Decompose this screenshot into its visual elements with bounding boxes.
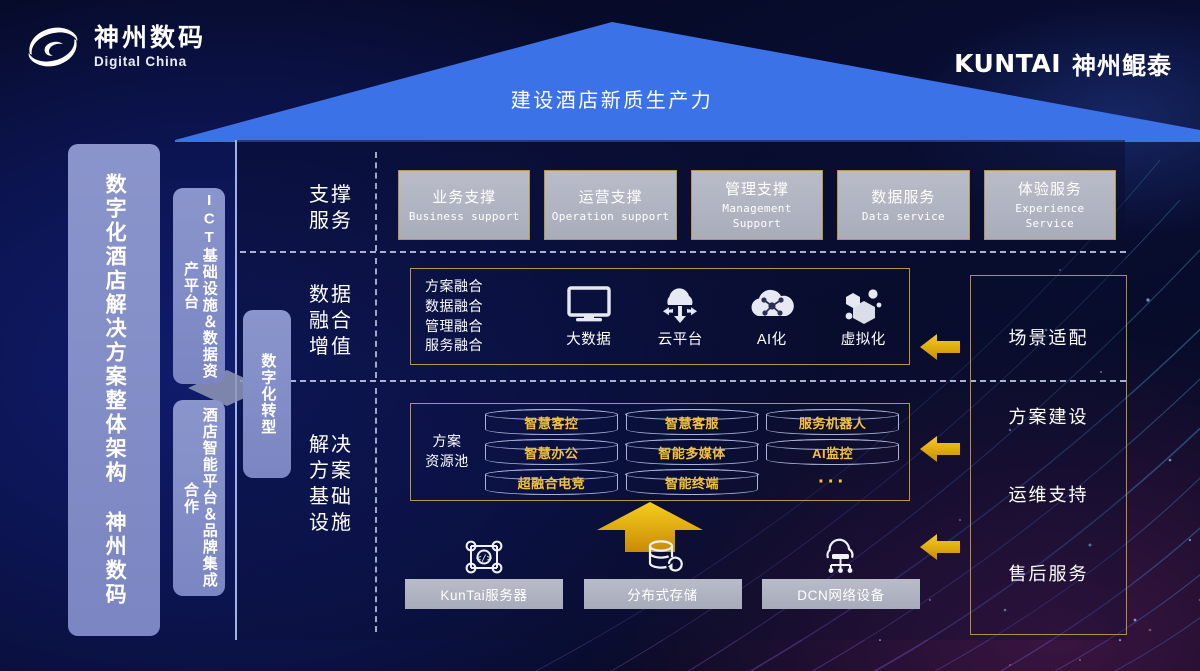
- cloud-transfer-icon: [656, 285, 704, 325]
- sidebar-panel-hotel-label: 酒店智能平台＆品牌集成合作: [180, 400, 218, 596]
- row-label-fusion-l2: 融合: [292, 308, 370, 334]
- solution-resource-pool-box: 方案 资源池 智慧客控智慧客服服务机器人智慧办公智能多媒体AI监控超融合电竞智能…: [410, 403, 910, 501]
- row-separator-support: [240, 251, 1126, 253]
- fusion-keyword-2: 数据融合: [425, 297, 543, 317]
- row-label-solution-l4: 设施: [292, 510, 370, 536]
- pool-label-l1: 方案: [411, 432, 483, 452]
- support-service-box-3[interactable]: 管理支撑ManagementSupport: [691, 170, 823, 240]
- database-sync-icon: [641, 535, 685, 579]
- fusion-item-bigdata-label: 大数据: [566, 328, 611, 349]
- pool-item-2[interactable]: 智慧客服: [626, 409, 759, 435]
- infrastructure-row: </> KunTai服务器 分布式存储: [405, 535, 920, 630]
- support-services-row: 业务支撑Business support运营支撑Operation suppor…: [398, 170, 1116, 240]
- pool-item-8[interactable]: 智能终端: [626, 469, 759, 495]
- row-label-fusion-l1: 数据: [292, 282, 370, 308]
- support-service-cn: 管理支撑: [725, 178, 789, 199]
- pool-item-4[interactable]: 智慧办公: [485, 439, 618, 465]
- fusion-keyword-1: 方案融合: [425, 277, 543, 297]
- support-service-en: ExperienceService: [1015, 202, 1084, 232]
- brand-logo-left-text: 神州数码 Digital China: [94, 25, 206, 68]
- row-label-solution-l2: 方案: [292, 458, 370, 484]
- fusion-item-virtualization-label: 虚拟化: [841, 328, 886, 349]
- brand-logo-left: 神州数码 Digital China: [24, 22, 206, 72]
- pool-item-3[interactable]: 服务机器人: [766, 409, 899, 435]
- support-service-en: Business support: [409, 210, 520, 225]
- left-arrow-icon-2: [920, 434, 960, 464]
- row-label-support: 支撑 服务: [292, 182, 370, 234]
- right-services-panel: 场景适配方案建设运维支持售后服务: [970, 275, 1127, 635]
- support-service-box-1[interactable]: 业务支撑Business support: [398, 170, 530, 240]
- row-label-solution-l3: 基础: [292, 484, 370, 510]
- house-roof: [175, 22, 1200, 142]
- kuntai-en: KUNTAI: [954, 49, 1061, 78]
- pool-label: 方案 资源池: [411, 432, 483, 471]
- pool-label-l2: 资源池: [411, 452, 483, 472]
- brand-en: Digital China: [94, 54, 206, 69]
- brand-cn: 神州数码: [94, 25, 206, 51]
- support-service-cn: 业务支撑: [432, 186, 496, 207]
- fusion-item-bigdata[interactable]: 大数据: [546, 285, 632, 349]
- fusion-item-ai-label: AI化: [757, 328, 787, 349]
- row-label-fusion-l3: 增值: [292, 334, 370, 360]
- monitor-icon: [566, 285, 612, 325]
- pool-item-1[interactable]: 智慧客控: [485, 409, 618, 435]
- row-label-support-l2: 服务: [292, 208, 370, 234]
- fusion-keyword-3: 管理融合: [425, 317, 543, 337]
- pool-item-9[interactable]: ···: [766, 469, 899, 495]
- pool-item-6[interactable]: AI监控: [766, 439, 899, 465]
- support-service-box-5[interactable]: 体验服务ExperienceService: [984, 170, 1116, 240]
- row-label-solution-l1: 解决: [292, 432, 370, 458]
- column-separator-fusion: [375, 258, 377, 378]
- row-label-support-l1: 支撑: [292, 182, 370, 208]
- support-service-en: Data service: [862, 210, 945, 225]
- server-nodes-icon: </>: [462, 535, 506, 579]
- sidebar-panel-ict[interactable]: ICT基础设施＆数据资产平台: [173, 188, 225, 384]
- sidebar-panel-digital-transformation[interactable]: 数字化转型: [243, 310, 291, 478]
- fusion-keyword-list: 方案融合数据融合管理融合服务融合: [411, 277, 543, 357]
- support-service-cn: 体验服务: [1018, 178, 1082, 199]
- sidebar-panel-hotel[interactable]: 酒店智能平台＆品牌集成合作: [173, 400, 225, 596]
- fusion-item-cloud-label: 云平台: [658, 328, 703, 349]
- cubes-icon: [840, 285, 886, 325]
- cloud-network-icon: [818, 535, 864, 579]
- left-arrow-icon-3: [920, 532, 960, 562]
- data-fusion-box: 方案融合数据融合管理融合服务融合 大数据 云平台: [410, 268, 910, 365]
- support-service-box-2[interactable]: 运营支撑Operation support: [544, 170, 676, 240]
- right-service-1[interactable]: 场景适配: [1009, 324, 1089, 350]
- sidebar-panel-architecture-label: 数字化酒店解决方案整体架构 神州数码: [101, 173, 127, 607]
- support-service-cn: 运营支撑: [579, 186, 643, 207]
- right-service-3[interactable]: 运维支持: [1009, 481, 1089, 507]
- svg-text:</>: </>: [476, 554, 493, 564]
- column-separator-support: [375, 152, 377, 251]
- fusion-item-virtualization[interactable]: 虚拟化: [820, 285, 906, 349]
- sidebar-panel-digital-transformation-label: 数字化转型: [258, 353, 277, 436]
- fusion-icon-group: 大数据 云平台: [543, 269, 909, 364]
- sidebar-panel-ict-label: ICT基础设施＆数据资产平台: [180, 188, 218, 384]
- column-separator-solution: [375, 388, 377, 632]
- infra-item-storage-label: 分布式存储: [584, 579, 742, 609]
- pool-item-7[interactable]: 超融合电竞: [485, 469, 618, 495]
- fusion-keyword-4: 服务融合: [425, 336, 543, 356]
- support-service-box-4[interactable]: 数据服务Data service: [837, 170, 969, 240]
- row-label-solution: 解决 方案 基础 设施: [292, 432, 370, 536]
- ai-cloud-icon: [747, 285, 797, 325]
- row-label-fusion: 数据 融合 增值: [292, 282, 370, 360]
- infra-item-storage[interactable]: 分布式存储: [584, 535, 742, 630]
- sidebar-panel-architecture[interactable]: 数字化酒店解决方案整体架构 神州数码: [68, 144, 160, 636]
- left-arrow-icon-1: [920, 332, 960, 362]
- kuntai-cn: 神州鲲泰: [1072, 46, 1172, 81]
- support-service-cn: 数据服务: [871, 186, 935, 207]
- support-service-en: ManagementSupport: [722, 202, 791, 232]
- brand-logo-right: KUNTAI 神州鲲泰: [954, 46, 1172, 81]
- pool-items-grid: 智慧客控智慧客服服务机器人智慧办公智能多媒体AI监控超融合电竞智能终端···: [483, 406, 909, 498]
- page-title: 建设酒店新质生产力: [511, 84, 714, 113]
- infra-item-server-label: KunTai服务器: [405, 579, 563, 609]
- fusion-item-cloud[interactable]: 云平台: [637, 285, 723, 349]
- pool-item-5[interactable]: 智能多媒体: [626, 439, 759, 465]
- right-service-4[interactable]: 售后服务: [1009, 560, 1089, 586]
- right-service-2[interactable]: 方案建设: [1009, 403, 1089, 429]
- infra-item-network-label: DCN网络设备: [762, 579, 920, 609]
- infra-item-network[interactable]: DCN网络设备: [762, 535, 920, 630]
- swirl-logo-icon: [24, 22, 82, 72]
- fusion-item-ai[interactable]: AI化: [729, 285, 815, 349]
- support-service-en: Operation support: [552, 210, 670, 225]
- infra-item-server[interactable]: </> KunTai服务器: [405, 535, 563, 630]
